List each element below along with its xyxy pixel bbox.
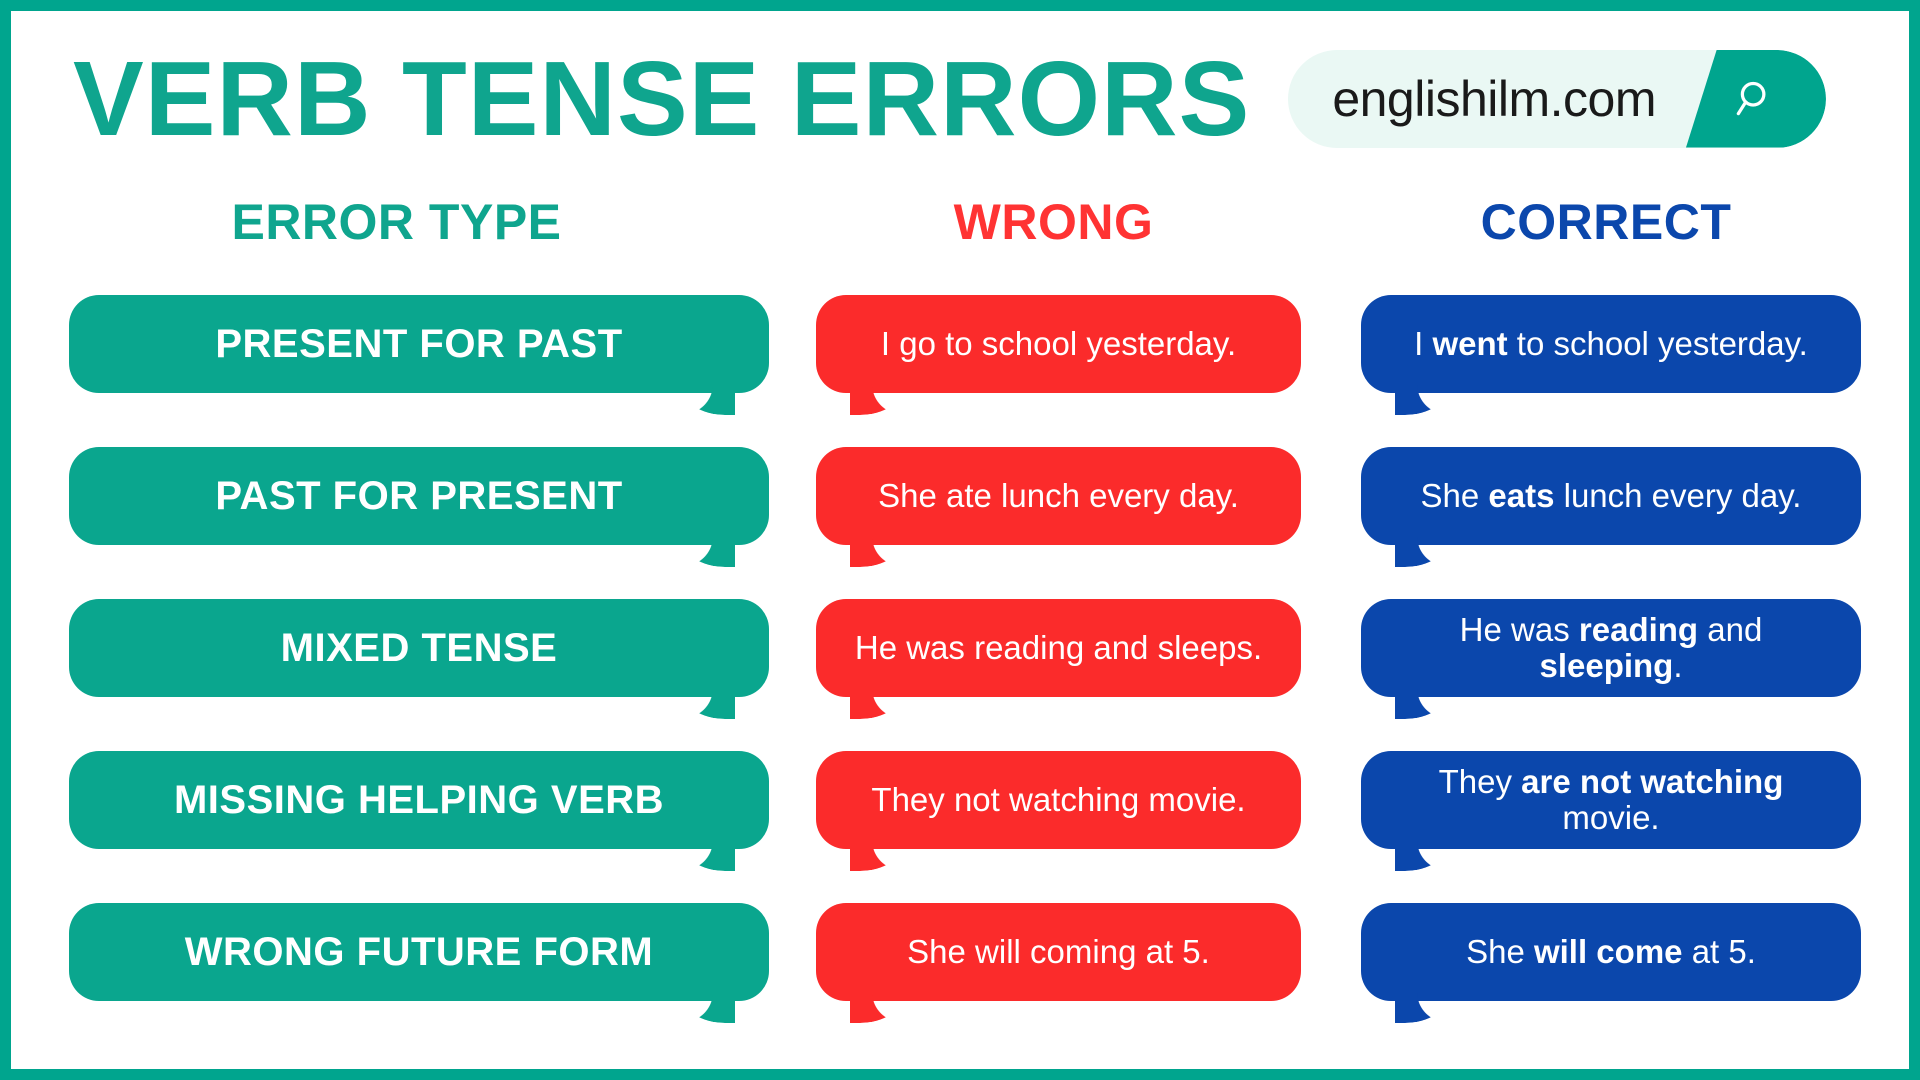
correct-sentence: She will come at 5. [1466, 934, 1756, 970]
error-type-bubble: MIXED TENSE [69, 599, 769, 697]
wrong-bubble: They not watching movie. [816, 751, 1301, 849]
wrong-sentence: They not watching movie. [871, 782, 1245, 818]
wrong-bubble: She will coming at 5. [816, 903, 1301, 1001]
error-type-bubble: PRESENT FOR PAST [69, 295, 769, 393]
correct-bubble: I went to school yesterday. [1361, 295, 1861, 393]
error-type-bubble: MISSING HELPING VERB [69, 751, 769, 849]
wrong-sentence: He was reading and sleeps. [855, 630, 1262, 666]
correct-bubble: She eats lunch every day. [1361, 447, 1861, 545]
correct-bubble: He was reading and sleeping. [1361, 599, 1861, 697]
wrong-bubble: She ate lunch every day. [816, 447, 1301, 545]
wrong-sentence: She ate lunch every day. [878, 478, 1239, 514]
correct-sentence: I went to school yesterday. [1414, 326, 1808, 362]
site-domain-label: englishilm.com [1288, 70, 1686, 128]
wrong-bubble: I go to school yesterday. [816, 295, 1301, 393]
correct-sentence: She eats lunch every day. [1421, 478, 1802, 514]
error-type-label: PAST FOR PRESENT [215, 474, 622, 518]
error-type-label: PRESENT FOR PAST [215, 322, 622, 366]
column-headers: ERROR TYPE WRONG CORRECT [11, 193, 1909, 273]
page-title: VERB TENSE ERRORS [73, 46, 1250, 152]
rows-container: PRESENT FOR PAST I go to school yesterda… [11, 295, 1909, 1069]
table-row: MIXED TENSE He was reading and sleeps. H… [11, 599, 1909, 751]
error-type-label: WRONG FUTURE FORM [185, 930, 653, 974]
error-type-bubble: PAST FOR PRESENT [69, 447, 769, 545]
error-type-label: MIXED TENSE [281, 626, 558, 670]
correct-sentence: They are not watching movie. [1387, 764, 1835, 837]
table-row: PAST FOR PRESENT She ate lunch every day… [11, 447, 1909, 599]
wrong-sentence: She will coming at 5. [907, 934, 1210, 970]
site-badge[interactable]: englishilm.com [1288, 50, 1826, 148]
wrong-sentence: I go to school yesterday. [881, 326, 1236, 362]
search-icon [1733, 76, 1779, 122]
column-header-correct: CORRECT [1356, 193, 1856, 251]
poster-header: VERB TENSE ERRORS englishilm.com [11, 11, 1909, 186]
correct-sentence: He was reading and sleeping. [1387, 612, 1835, 685]
column-header-error-type: ERROR TYPE [69, 193, 724, 251]
table-row: MISSING HELPING VERB They not watching m… [11, 751, 1909, 903]
column-header-wrong: WRONG [806, 193, 1301, 251]
search-button[interactable] [1686, 50, 1826, 148]
error-type-bubble: WRONG FUTURE FORM [69, 903, 769, 1001]
wrong-bubble: He was reading and sleeps. [816, 599, 1301, 697]
poster-root: VERB TENSE ERRORS englishilm.com ERROR T… [0, 0, 1920, 1080]
table-row: PRESENT FOR PAST I go to school yesterda… [11, 295, 1909, 447]
correct-bubble: She will come at 5. [1361, 903, 1861, 1001]
correct-bubble: They are not watching movie. [1361, 751, 1861, 849]
error-type-label: MISSING HELPING VERB [174, 778, 664, 822]
table-row: WRONG FUTURE FORM She will coming at 5. … [11, 903, 1909, 1055]
